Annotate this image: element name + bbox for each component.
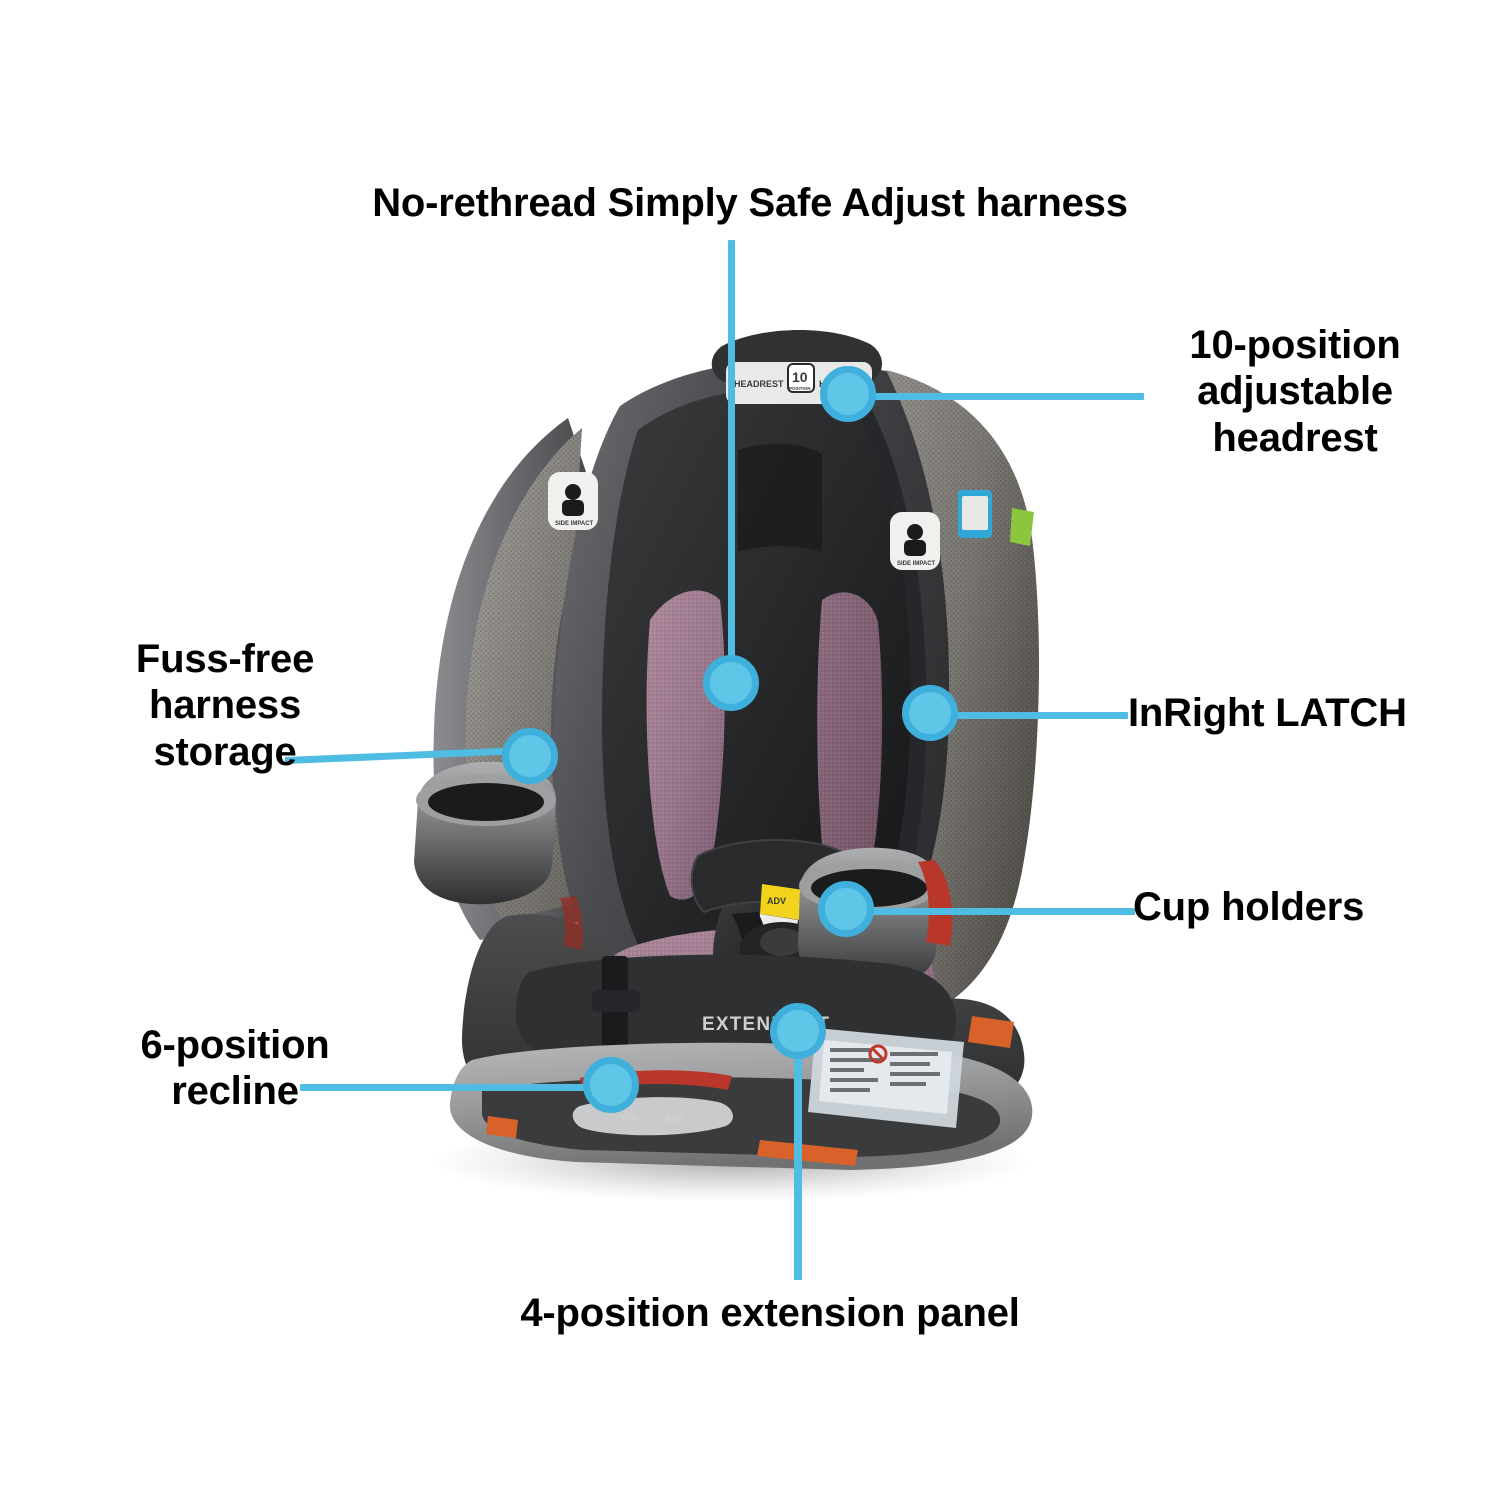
- side-impact-badge-right: SIDE IMPACT: [890, 512, 940, 570]
- callout-label-extension-panel: 4-position extension panel: [420, 1290, 1120, 1336]
- leader-line-headrest: [848, 393, 1144, 400]
- callout-label-harness-storage: Fuss-free harness storage: [60, 636, 390, 775]
- callout-label-headrest: 10-position adjustable headrest: [1145, 322, 1445, 461]
- headrest-tag-sub: POSITION: [789, 386, 811, 391]
- callout-dot-harness[interactable]: [703, 655, 759, 711]
- leader-line-harness: [728, 240, 735, 680]
- leader-line-extension-panel: [794, 1030, 802, 1280]
- headrest-tag-number: 10: [792, 369, 808, 385]
- svg-text:SIDE IMPACT: SIDE IMPACT: [897, 561, 936, 567]
- headrest-tag-left: HEADREST: [734, 379, 784, 389]
- callout-dot-headrest[interactable]: [820, 366, 876, 422]
- callout-label-latch: InRight LATCH: [1128, 690, 1458, 736]
- callout-dot-latch[interactable]: [902, 685, 958, 741]
- advisory-tag-text: ADV: [767, 896, 786, 906]
- svg-text:SIDE IMPACT: SIDE IMPACT: [555, 521, 594, 527]
- diagram-canvas: HEADREST 10 POSITION HARNESS SIDE IMPACT…: [0, 0, 1500, 1500]
- callout-label-recline: 6-position recline: [70, 1022, 400, 1115]
- leader-line-cup-holders: [845, 908, 1135, 915]
- recline-label: RECLINE: [620, 1112, 685, 1127]
- callout-label-cup-holders: Cup holders: [1133, 884, 1463, 930]
- callout-dot-harness-storage[interactable]: [502, 728, 558, 784]
- callout-dot-recline[interactable]: [583, 1057, 639, 1113]
- callout-dot-extension-panel[interactable]: [770, 1003, 826, 1059]
- callout-dot-cup-holders[interactable]: [818, 881, 874, 937]
- leader-line-latch: [930, 712, 1128, 719]
- instruction-label: [808, 1028, 964, 1128]
- callout-label-harness: No-rethread Simply Safe Adjust harness: [300, 180, 1200, 226]
- side-impact-badge-left: SIDE IMPACT: [548, 472, 598, 530]
